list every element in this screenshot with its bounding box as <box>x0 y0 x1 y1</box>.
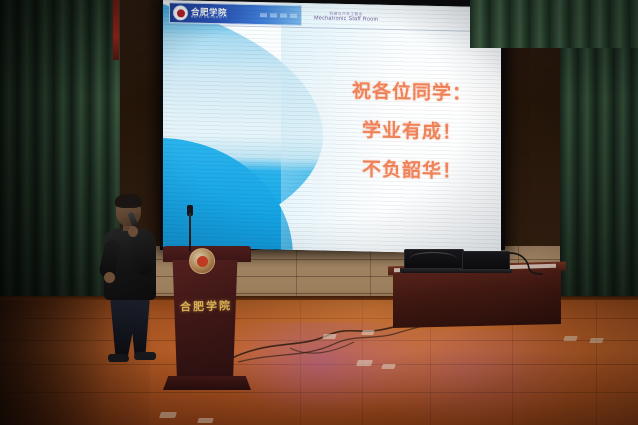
seal-icon <box>173 5 188 20</box>
stage-curtain-right <box>560 0 638 330</box>
floor-tape-marker <box>322 334 337 339</box>
glasses-icon <box>117 206 140 212</box>
stage-curtain-valance <box>470 0 638 48</box>
slide-line-1: 祝各位同学： <box>331 82 493 105</box>
floor-tape-marker <box>563 336 578 341</box>
floor-tape-marker <box>589 338 604 343</box>
table-front-panel <box>393 269 561 328</box>
logo-decorative-bars <box>228 12 301 18</box>
laptop-base <box>400 268 466 273</box>
slide-line-2: 学业有成！ <box>331 121 493 144</box>
presenter-shoe-left <box>108 354 129 362</box>
projection-screen: 合肥学院 HEFEI UNIVERSITY 机械与汽车工程系 Mechatron… <box>163 0 501 254</box>
department-name-en: Mechatronic Staff Room <box>314 16 378 24</box>
microphone-icon <box>186 205 194 250</box>
speaker-podium: 合肥学院 <box>163 246 251 398</box>
presenter-hand-right <box>128 226 138 237</box>
floor-tape-marker <box>361 330 375 335</box>
floor-tape-marker <box>381 364 396 369</box>
slide-line-3: 不负韶华！ <box>331 160 493 183</box>
slide-message: 祝各位同学： 学业有成！ 不负韶华！ <box>331 82 493 183</box>
curtain-red-accent-left <box>113 0 119 60</box>
floor-tape-marker <box>356 360 373 366</box>
laptop-power-cable <box>505 250 547 276</box>
floor-tape-marker <box>159 412 177 418</box>
podium-label: 合肥学院 <box>173 297 239 315</box>
podium-base <box>163 376 251 390</box>
presenter <box>96 196 168 368</box>
logo-name-en: HEFEI UNIVERSITY <box>191 16 228 20</box>
university-logo-bar: 合肥学院 HEFEI UNIVERSITY <box>169 2 302 26</box>
podium-body <box>169 260 241 378</box>
lecture-hall-photo: 合肥学院 HEFEI UNIVERSITY 机械与汽车工程系 Mechatron… <box>0 0 638 425</box>
presenter-legs <box>110 296 150 358</box>
department-title: 机械与汽车工程系 Mechatronic Staff Room <box>314 5 378 28</box>
presenter-shoe-right <box>134 352 156 360</box>
seal-icon <box>189 248 215 274</box>
floor-tape-marker <box>197 418 214 423</box>
presenter-hand-left <box>104 272 115 283</box>
